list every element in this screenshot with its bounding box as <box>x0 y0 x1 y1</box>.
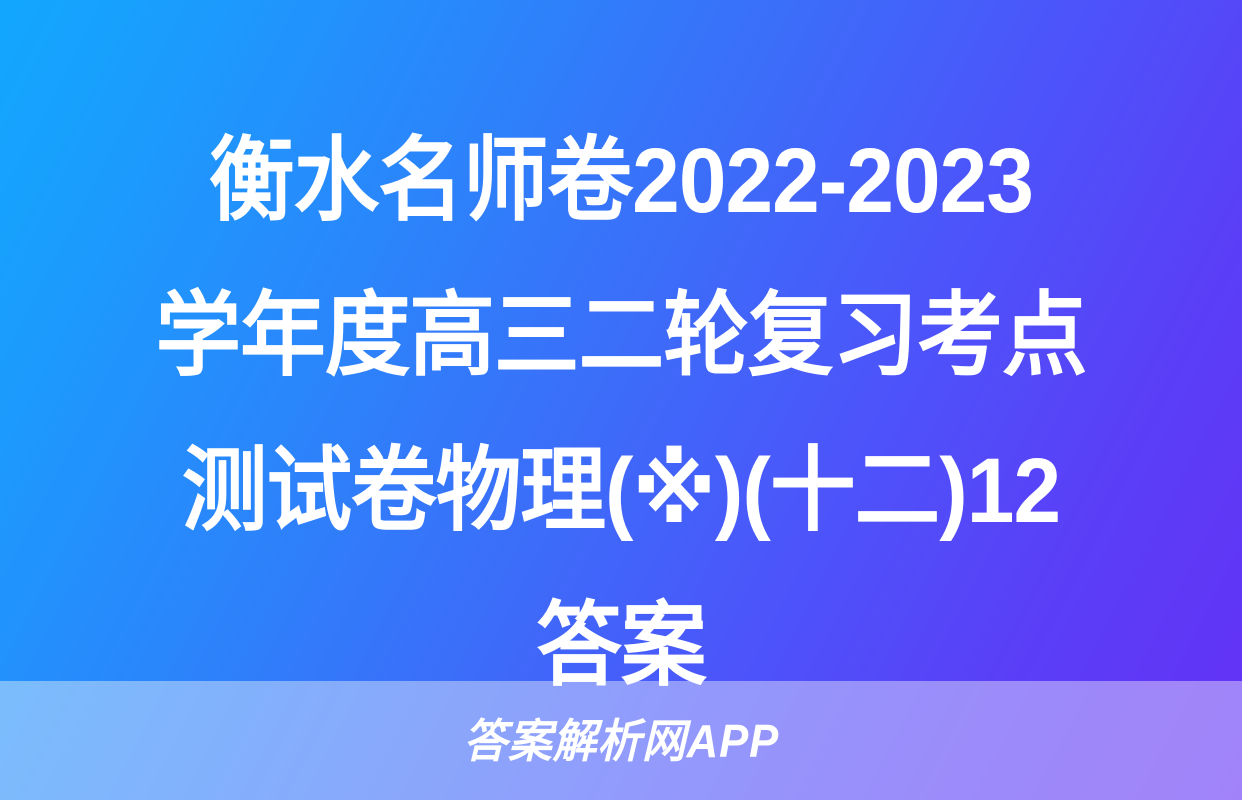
headline-block: 衡水名师卷2022-2023 学年度高三二轮复习考点 测试卷物理(※)(十二)1… <box>0 104 1242 724</box>
headline-line-3: 测试卷物理(※)(十二)12 <box>92 414 1150 569</box>
headline-line-2: 学年度高三二轮复习考点 <box>92 259 1150 414</box>
footer-brand-label: 答案解析网APP <box>463 718 779 764</box>
footer-brand-bar: 答案解析网APP <box>0 681 1242 800</box>
promo-banner: 衡水名师卷2022-2023 学年度高三二轮复习考点 测试卷物理(※)(十二)1… <box>0 0 1242 800</box>
headline-line-1: 衡水名师卷2022-2023 <box>92 104 1150 259</box>
